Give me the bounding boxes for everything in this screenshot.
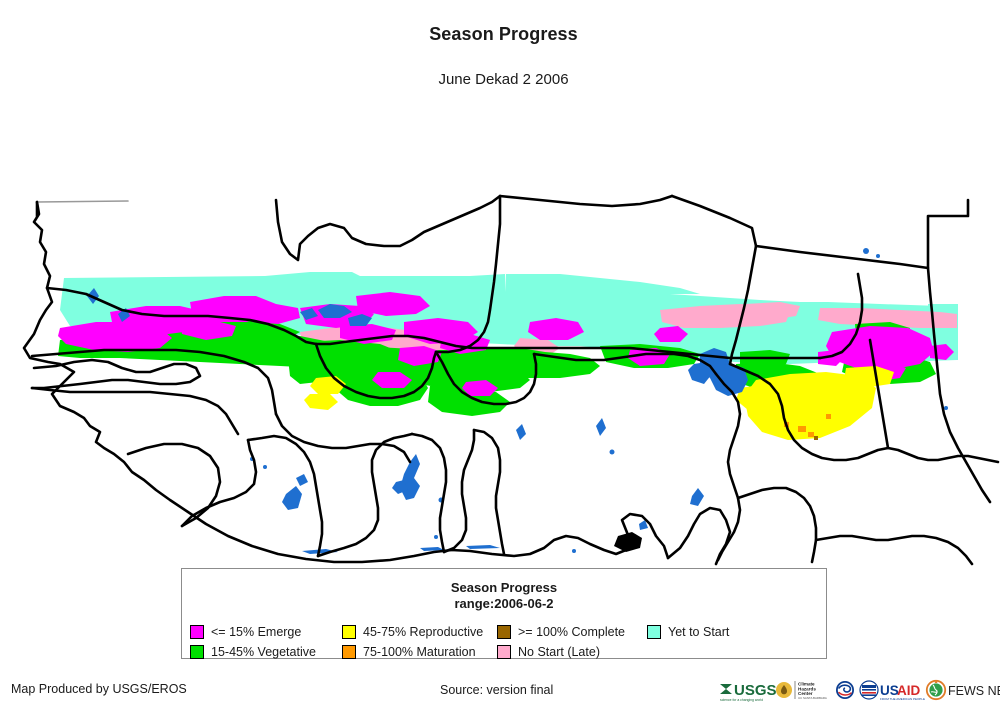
legend-item-reproductive[interactable]: 45-75% Reproductive bbox=[342, 623, 497, 640]
svg-text:AID: AID bbox=[897, 683, 921, 698]
legend-swatch-maturation-icon bbox=[342, 645, 356, 659]
legend-swatch-reproductive-icon bbox=[342, 625, 356, 639]
partner-logos: USGS science for a changing world Climat… bbox=[718, 676, 1000, 706]
legend-swatch-vegetative-icon bbox=[190, 645, 204, 659]
legend-label-yet-to-start: Yet to Start bbox=[668, 625, 729, 639]
legend-swatch-yet-to-start-icon bbox=[647, 625, 661, 639]
legend-column-4: Yet to Start bbox=[647, 623, 787, 640]
footer-produced-by: Map Produced by USGS/EROS bbox=[11, 682, 187, 696]
usgs-logo[interactable]: USGS science for a changing world bbox=[720, 682, 777, 702]
legend-label-maturation: 75-100% Maturation bbox=[363, 645, 476, 659]
map-canvas[interactable] bbox=[0, 96, 1007, 566]
legend-item-vegetative[interactable]: 15-45% Vegetative bbox=[190, 643, 342, 660]
legend-label-no-start-late: No Start (Late) bbox=[518, 645, 600, 659]
legend-label-vegetative: 15-45% Vegetative bbox=[211, 645, 316, 659]
legend-swatch-complete-icon bbox=[497, 625, 511, 639]
legend-column-2: 45-75% Reproductive 75-100% Maturation bbox=[342, 623, 497, 660]
fewsnet-logo[interactable]: FEWS NET bbox=[927, 681, 1000, 700]
footer-source: Source: version final bbox=[440, 683, 553, 697]
svg-text:FEWS NET: FEWS NET bbox=[948, 684, 1000, 698]
svg-text:UC SANTA BARBARA: UC SANTA BARBARA bbox=[798, 696, 827, 700]
legend-swatch-no-start-late-icon bbox=[497, 645, 511, 659]
africa-season-progress-map[interactable] bbox=[0, 96, 1007, 566]
legend-title: Season Progress bbox=[182, 580, 826, 596]
legend-label-emerge: <= 15% Emerge bbox=[211, 625, 301, 639]
svg-text:US: US bbox=[880, 683, 899, 698]
small-lake-2 bbox=[876, 254, 880, 258]
small-lake-3 bbox=[944, 406, 948, 410]
legend-column-3: >= 100% Complete No Start (Late) bbox=[497, 623, 647, 660]
legend-swatch-emerge-icon bbox=[190, 625, 204, 639]
class-complete-region bbox=[814, 436, 818, 440]
legend-label-complete: >= 100% Complete bbox=[518, 625, 625, 639]
page-title: Season Progress bbox=[0, 24, 1007, 45]
small-lake-6 bbox=[434, 535, 438, 539]
legend-item-complete[interactable]: >= 100% Complete bbox=[497, 623, 647, 640]
usaid-logo[interactable]: US AID FROM THE AMERICAN PEOPLE bbox=[860, 681, 925, 701]
noaa-logo[interactable] bbox=[836, 681, 854, 699]
small-lake-5 bbox=[610, 450, 615, 455]
legend-entries: <= 15% Emerge 15-45% Vegetative 45-75% R… bbox=[190, 623, 820, 660]
legend-item-yet-to-start[interactable]: Yet to Start bbox=[647, 623, 787, 640]
svg-text:FROM THE AMERICAN PEOPLE: FROM THE AMERICAN PEOPLE bbox=[880, 697, 925, 701]
border-western-sahara bbox=[37, 201, 128, 202]
small-lake-7 bbox=[572, 549, 576, 553]
page-subtitle: June Dekad 2 2006 bbox=[0, 71, 1007, 88]
footer-logo-strip: USGS science for a changing world Climat… bbox=[718, 676, 1000, 706]
svg-text:science for a changing world: science for a changing world bbox=[720, 698, 763, 702]
small-lake-1 bbox=[863, 248, 869, 254]
svg-text:USGS: USGS bbox=[734, 682, 777, 699]
legend-item-emerge[interactable]: <= 15% Emerge bbox=[190, 623, 342, 640]
legend-item-maturation[interactable]: 75-100% Maturation bbox=[342, 643, 497, 660]
legend-range: range:2006-06-2 bbox=[182, 596, 826, 612]
legend-label-reproductive: 45-75% Reproductive bbox=[363, 625, 483, 639]
small-lake-9 bbox=[263, 465, 267, 469]
legend-item-no-start-late[interactable]: No Start (Late) bbox=[497, 643, 647, 660]
legend-column-1: <= 15% Emerge 15-45% Vegetative bbox=[190, 623, 342, 660]
chc-logo[interactable]: Climate Hazards Center UC SANTA BARBARA bbox=[776, 681, 827, 700]
legend-panel: Season Progress range:2006-06-2 <= 15% E… bbox=[181, 568, 827, 659]
